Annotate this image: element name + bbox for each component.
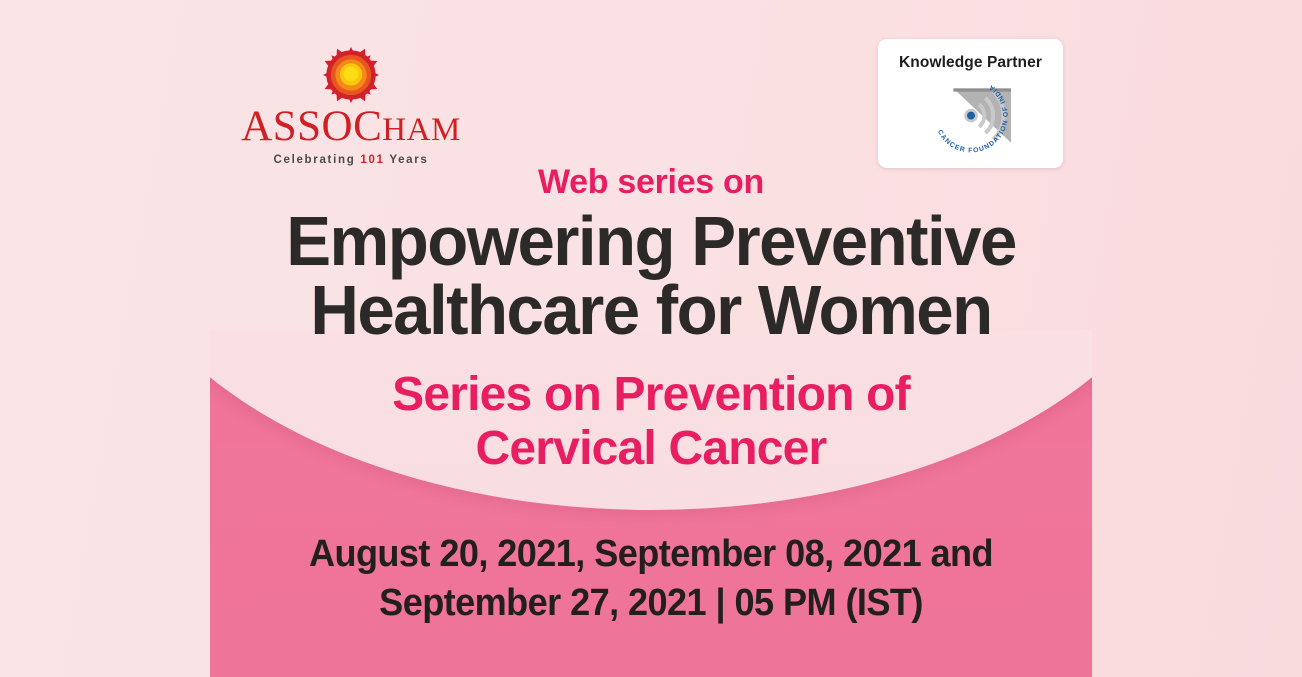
subtitle-line-2: Cervical Cancer [0,422,1302,476]
cancer-foundation-of-india-logo: CANCER FOUNDATION OF INDIA [923,74,1019,154]
event-dates-line-2: September 27, 2021 | 05 PM (IST) [33,579,1270,628]
assocham-wordmark: ASSOCHAM [226,105,476,148]
assocham-logo: ASSOCHAM Celebrating 101 Years [226,47,476,166]
headline-line-1: Empowering Preventive [26,207,1276,276]
headline-line-2: Healthcare for Women [26,276,1276,345]
assocham-wordmark-part2: C [353,103,382,150]
subtitle: Series on Prevention of Cervical Cancer [0,368,1302,476]
subtitle-line-1: Series on Prevention of [0,368,1302,422]
knowledge-partner-card: Knowledge Partner CANCER FOUNDATION OF I… [878,39,1063,168]
assocham-wordmark-part3: HAM [382,112,461,148]
page-title: Empowering Preventive Healthcare for Wom… [26,207,1276,344]
event-banner: ASSOCHAM Celebrating 101 Years Knowledge… [0,0,1302,677]
assocham-wordmark-part1: ASSO [241,103,353,150]
sunburst-icon [323,47,379,103]
knowledge-partner-title: Knowledge Partner [878,39,1063,72]
event-dates: August 20, 2021, September 08, 2021 and … [33,530,1270,627]
event-dates-line-1: August 20, 2021, September 08, 2021 and [33,530,1270,579]
eyebrow-label: Web series on [0,163,1302,202]
